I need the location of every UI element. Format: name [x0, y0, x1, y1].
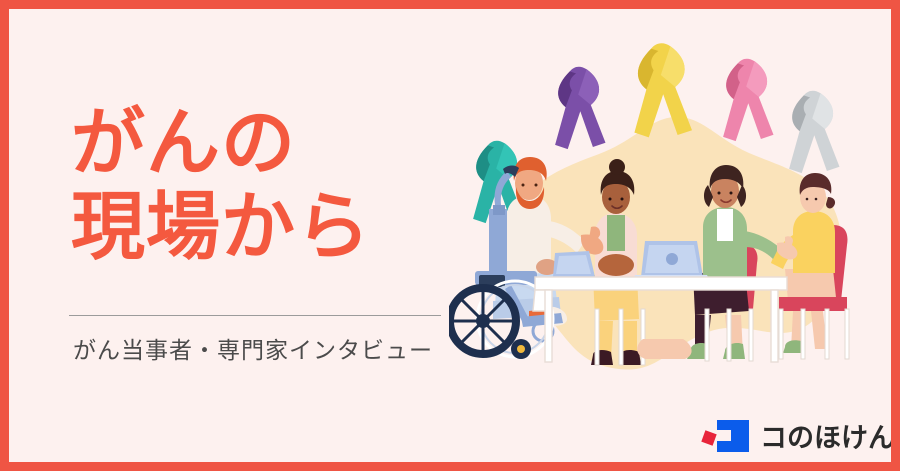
laptop-secondary [553, 251, 595, 277]
cancer-interview-banner: がんの 現場から がん当事者・専門家インタビュー コのほけん! [0, 0, 900, 471]
gray-ribbon [789, 91, 839, 173]
konohoken-mark-icon [703, 418, 751, 454]
brand-logo[interactable]: コのほけん! [703, 416, 900, 455]
pink-ribbon [723, 59, 773, 141]
brand-name: コのほけん! [760, 416, 900, 455]
headline-line-1: がんの [71, 101, 446, 185]
subtitle: がん当事者・専門家インタビュー [73, 336, 433, 366]
headline-block: がんの 現場から [71, 101, 446, 269]
headline-line-2: 現場から [71, 185, 446, 269]
logo-red-diamond [701, 430, 716, 445]
headline-divider [69, 315, 441, 316]
purple-ribbon [555, 67, 605, 149]
foreground-feet [637, 339, 691, 359]
meeting-illustration [449, 19, 899, 419]
logo-square-notch [717, 430, 731, 441]
